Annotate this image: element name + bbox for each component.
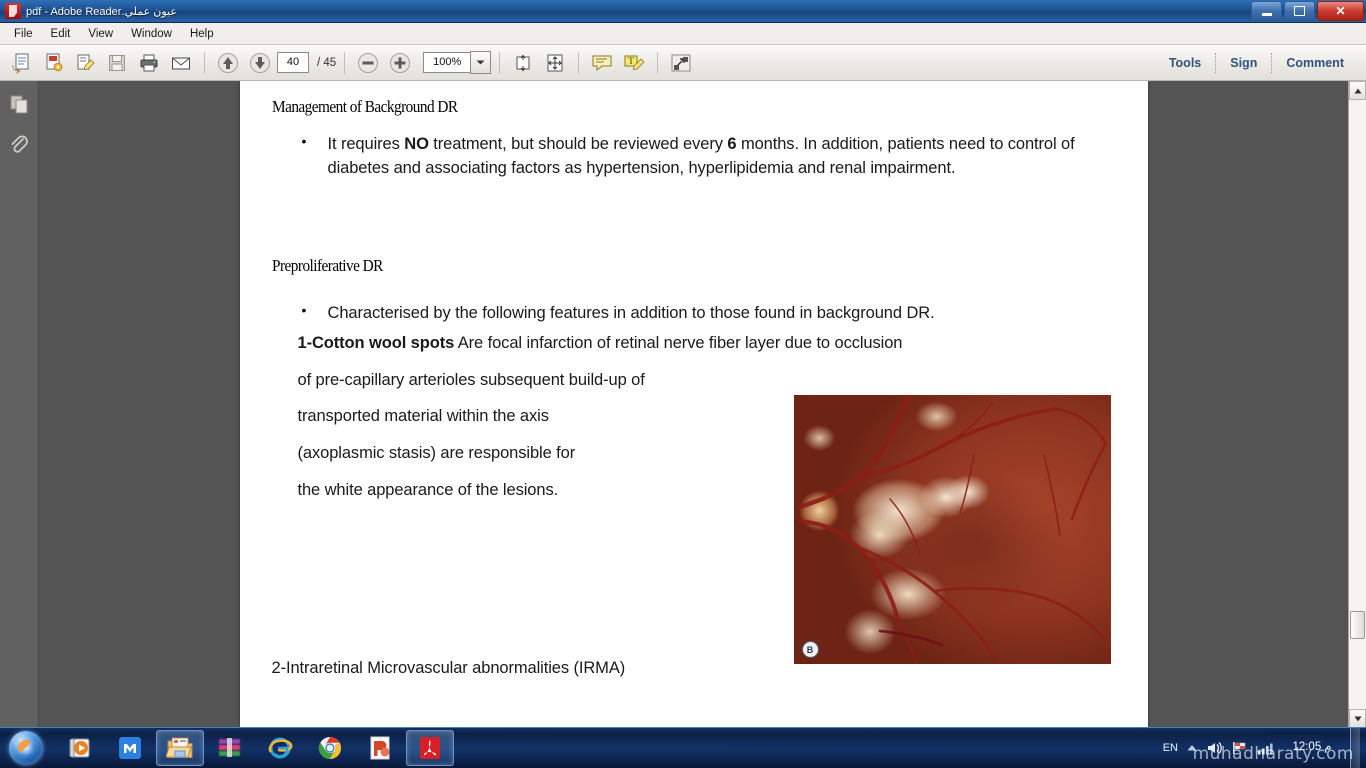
fundus-photograph-cotton-wool-spots: B bbox=[794, 395, 1111, 664]
bullet-part-no: NO bbox=[404, 135, 429, 153]
toolbar: 40 / 45 100% bbox=[0, 45, 1366, 81]
line-cotton-wool-spots: 1-Cotton wool spots Are focal infarction… bbox=[272, 331, 1118, 356]
menu-edit[interactable]: Edit bbox=[43, 26, 79, 42]
previous-page-icon[interactable] bbox=[213, 48, 243, 78]
save-icon[interactable] bbox=[102, 48, 132, 78]
bullet-management: • It requires NO treatment, but should b… bbox=[272, 133, 1118, 181]
action-center-flag-icon[interactable] bbox=[1231, 740, 1248, 756]
fit-width-icon[interactable] bbox=[508, 48, 538, 78]
scrollbar-track[interactable] bbox=[1349, 100, 1366, 709]
taskbar-buttons bbox=[56, 730, 454, 766]
page-content: Management of Background DR • It require… bbox=[240, 81, 1148, 681]
email-icon[interactable] bbox=[166, 48, 196, 78]
menu-file[interactable]: File bbox=[6, 26, 41, 42]
bullet-characterised-text: Characterised by the following features … bbox=[328, 302, 935, 326]
adobe-reader-window: عيون عملي.pdf - Adobe Reader ✕ File Edit… bbox=[0, 0, 1366, 728]
pdf-page: Management of Background DR • It require… bbox=[240, 81, 1148, 728]
menu-help[interactable]: Help bbox=[182, 26, 222, 42]
scroll-down-arrow[interactable] bbox=[1349, 709, 1366, 728]
windows-explorer-icon[interactable] bbox=[156, 730, 204, 766]
taskbar-clock[interactable]: 12:05 م bbox=[1282, 741, 1342, 754]
internet-explorer-icon[interactable] bbox=[256, 730, 304, 766]
toolbar-separator-2 bbox=[344, 52, 345, 74]
print-icon[interactable] bbox=[134, 48, 164, 78]
minimize-button[interactable] bbox=[1251, 1, 1282, 21]
page-total-label: / 45 bbox=[317, 57, 336, 69]
network-signal-icon[interactable] bbox=[1256, 740, 1274, 756]
window-controls: ✕ bbox=[1251, 1, 1364, 21]
heading-management-background-dr: Management of Background DR bbox=[272, 97, 1033, 117]
windows-media-player-icon[interactable] bbox=[56, 730, 104, 766]
restore-button[interactable] bbox=[1284, 1, 1315, 21]
close-button[interactable]: ✕ bbox=[1317, 1, 1364, 21]
windows-taskbar: EN 12:05 م bbox=[0, 727, 1366, 768]
scrollbar-thumb[interactable] bbox=[1350, 611, 1365, 639]
start-orb-icon[interactable] bbox=[2, 729, 50, 767]
system-tray: EN 12:05 م bbox=[1163, 728, 1366, 768]
google-chrome-icon[interactable] bbox=[306, 730, 354, 766]
comment-button[interactable]: Comment bbox=[1272, 56, 1358, 70]
create-pdf-icon[interactable] bbox=[38, 48, 68, 78]
show-desktop-button[interactable] bbox=[1350, 728, 1360, 768]
bullet-marker: • bbox=[272, 133, 328, 181]
bullet-part-a: It requires bbox=[328, 135, 405, 153]
menu-window[interactable]: Window bbox=[123, 26, 180, 42]
paperclip-attachments-icon[interactable] bbox=[6, 131, 32, 157]
title-bar: عيون عملي.pdf - Adobe Reader ✕ bbox=[0, 0, 1366, 23]
bullet-marker-2: • bbox=[272, 302, 328, 326]
volume-speaker-icon[interactable] bbox=[1206, 740, 1223, 756]
show-hidden-icons-arrow[interactable] bbox=[1186, 743, 1198, 753]
toolbar-separator-4 bbox=[578, 52, 579, 74]
edit-pdf-icon[interactable] bbox=[70, 48, 100, 78]
winrar-icon[interactable] bbox=[206, 730, 254, 766]
bullet-characterised: • Characterised by the following feature… bbox=[272, 302, 1118, 326]
toolbar-separator-3 bbox=[499, 52, 500, 74]
svg-text:T: T bbox=[628, 56, 634, 66]
toolbar-separator bbox=[204, 52, 205, 74]
vertical-scrollbar[interactable] bbox=[1348, 81, 1366, 728]
read-mode-expand-icon[interactable] bbox=[666, 48, 696, 78]
comment-bubble-icon[interactable] bbox=[587, 48, 617, 78]
scroll-up-arrow[interactable] bbox=[1349, 81, 1366, 100]
cotton-wool-rest: Are focal infarction of retinal nerve fi… bbox=[454, 334, 902, 352]
right-tool-buttons: Tools Sign Comment bbox=[1155, 45, 1358, 80]
window-title: عيون عملي.pdf - Adobe Reader bbox=[26, 5, 177, 18]
powerpoint-icon[interactable] bbox=[356, 730, 404, 766]
zoom-level-input[interactable]: 100% bbox=[423, 52, 470, 73]
page-number-input[interactable]: 40 bbox=[277, 52, 309, 73]
document-view[interactable]: Management of Background DR • It require… bbox=[39, 81, 1348, 728]
heading-preproliferative-dr: Preproliferative DR bbox=[272, 256, 1033, 276]
maxthon-browser-icon[interactable] bbox=[106, 730, 154, 766]
adobe-reader-icon bbox=[5, 3, 21, 19]
chevron-down-icon[interactable] bbox=[470, 51, 491, 74]
retinal-vessels bbox=[794, 395, 1111, 664]
zoom-in-icon[interactable] bbox=[385, 48, 415, 78]
bullet-management-text: It requires NO treatment, but should be … bbox=[328, 133, 1086, 181]
tools-button[interactable]: Tools bbox=[1155, 56, 1215, 70]
page-thumbnails-icon[interactable] bbox=[6, 91, 32, 117]
menu-bar: File Edit View Window Help bbox=[0, 23, 1366, 45]
cotton-wool-bold: 1-Cotton wool spots bbox=[298, 334, 455, 352]
toolbar-separator-5 bbox=[657, 52, 658, 74]
navigation-pane bbox=[0, 81, 39, 728]
zoom-out-icon[interactable] bbox=[353, 48, 383, 78]
adobe-reader-icon[interactable] bbox=[406, 730, 454, 766]
language-indicator[interactable]: EN bbox=[1163, 742, 1178, 754]
reader-body: Management of Background DR • It require… bbox=[0, 81, 1366, 728]
fit-page-icon[interactable] bbox=[540, 48, 570, 78]
sign-button[interactable]: Sign bbox=[1216, 56, 1271, 70]
text-comment-icon[interactable]: T bbox=[619, 48, 649, 78]
bullet-part-c: treatment, but should be reviewed every bbox=[429, 135, 728, 153]
next-page-icon[interactable] bbox=[245, 48, 275, 78]
menu-view[interactable]: View bbox=[80, 26, 121, 42]
flow-line-1: of pre-capillary arterioles subsequent b… bbox=[272, 368, 1118, 393]
open-file-icon[interactable] bbox=[6, 48, 36, 78]
figure-label-badge: B bbox=[802, 641, 819, 658]
